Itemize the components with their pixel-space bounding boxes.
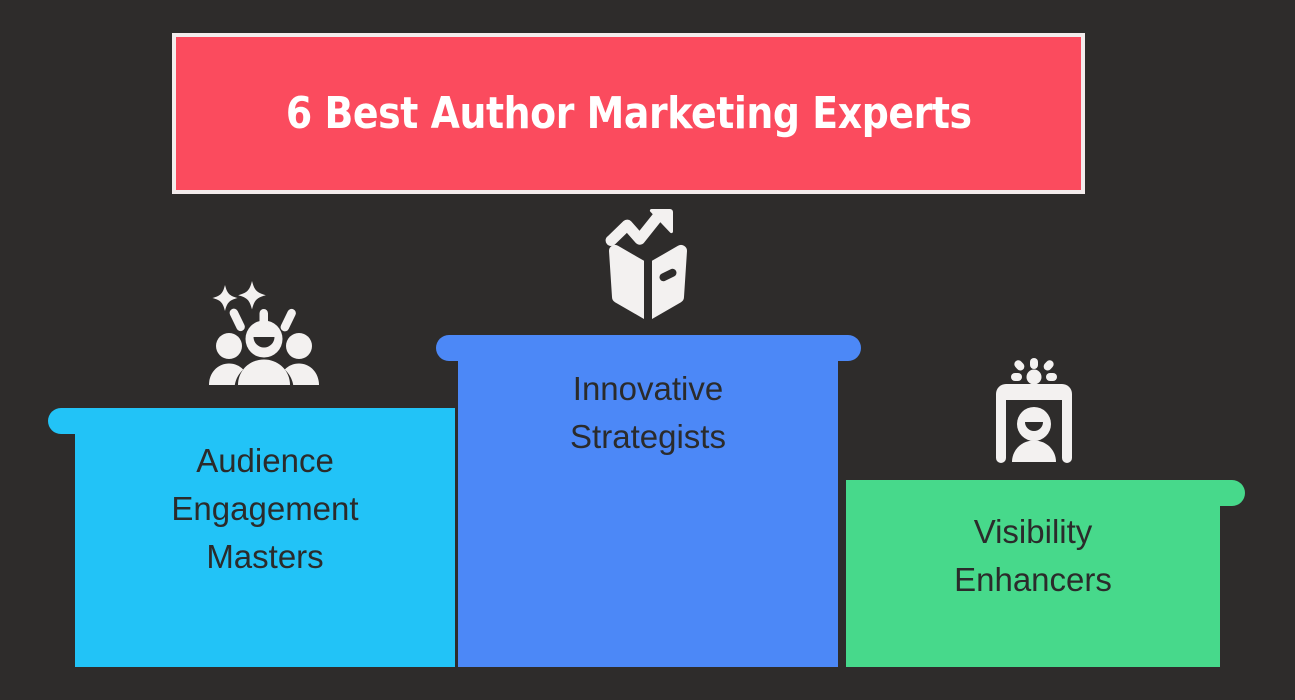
page-title: 6 Best Author Marketing Experts: [286, 88, 972, 139]
podium-label-right-line1: Visibility: [954, 508, 1112, 556]
open-book-growth-arrow-icon: [595, 203, 701, 321]
title-banner: 6 Best Author Marketing Experts: [172, 33, 1085, 194]
podium-label-left-line3: Masters: [171, 533, 358, 581]
podium-label-right-line2: Enhancers: [954, 556, 1112, 604]
podium-body-center: Innovative Strategists: [458, 348, 838, 667]
podium-label-left-line2: Engagement: [171, 485, 358, 533]
podium-label-left: Audience Engagement Masters: [171, 437, 358, 581]
podium-body-left: Audience Engagement Masters: [75, 421, 455, 667]
spotlight-person-icon: [984, 358, 1084, 468]
podium-label-center: Innovative Strategists: [570, 365, 726, 461]
podium-label-right: Visibility Enhancers: [954, 508, 1112, 604]
podium-body-right: Visibility Enhancers: [846, 493, 1220, 667]
podium-label-center-line1: Innovative: [570, 365, 726, 413]
audience-group-sparkle-icon: [208, 277, 320, 389]
podium-label-center-line2: Strategists: [570, 413, 726, 461]
podium-label-left-line1: Audience: [171, 437, 358, 485]
infographic-canvas: 6 Best Author Marketing Experts Audience…: [0, 0, 1295, 700]
